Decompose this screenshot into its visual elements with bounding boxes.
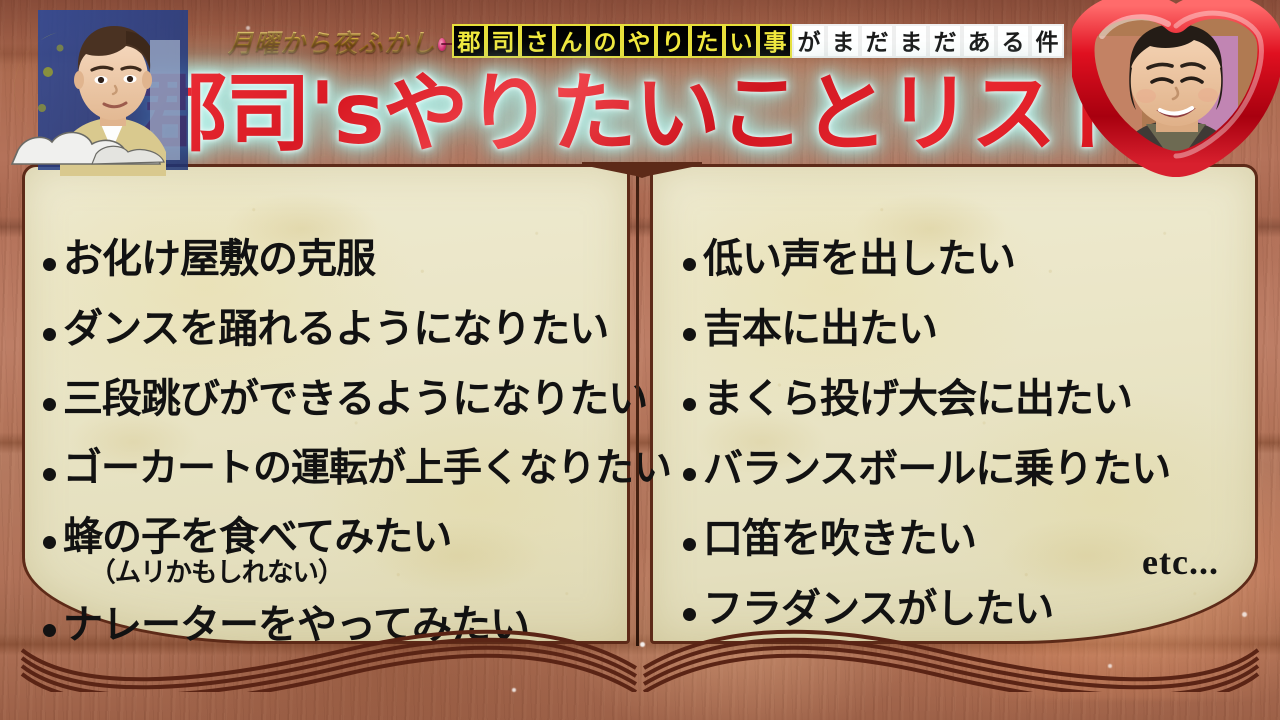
bullet-icon bbox=[43, 328, 56, 341]
wishlist-item: バランスボールに乗りたい bbox=[683, 449, 1170, 490]
subtitle-char-plain: あ bbox=[962, 24, 996, 58]
subtitle-char-highlight: り bbox=[656, 24, 690, 58]
host-photo bbox=[0, 0, 212, 180]
show-logo-text: 月曜から夜ふかし bbox=[228, 24, 436, 60]
book-spine-top-notch bbox=[582, 162, 702, 178]
bullet-icon bbox=[43, 468, 56, 481]
subtitle-char-plain: ま bbox=[894, 24, 928, 58]
open-book: お化け屋敷の克服ダンスを踊れるようになりたい三段跳びができるようになりたいゴーカ… bbox=[22, 164, 1258, 684]
page-title-text: 郡司'sやりたいことリスト bbox=[141, 66, 1139, 162]
wishlist-item-label: お化け屋敷の克服 bbox=[63, 239, 375, 280]
bullet-icon bbox=[43, 258, 56, 271]
subtitle-char-plain: る bbox=[996, 24, 1030, 58]
wishlist-item-label: 低い声を出したい bbox=[703, 239, 1015, 280]
wishlist-item-label: ゴーカートの運転が上手くなりたい bbox=[63, 449, 671, 489]
subtitle-char-highlight: た bbox=[690, 24, 724, 58]
bullet-icon bbox=[43, 536, 56, 549]
show-logo: 月曜から夜ふかし bbox=[228, 23, 446, 61]
subtitle-char-highlight: い bbox=[724, 24, 758, 58]
wishlist-item: 口笛を吹きたい bbox=[683, 519, 976, 560]
wishlist-item: 三段跳びができるようになりたい bbox=[43, 379, 647, 420]
subtitle-char-highlight: 事 bbox=[758, 24, 792, 58]
wishlist-item: ゴーカートの運転が上手くなりたい bbox=[43, 449, 671, 489]
bullet-icon bbox=[683, 328, 696, 341]
wishlist-item-label: 吉本に出たい bbox=[703, 309, 937, 350]
wishlist-item: 吉本に出たい bbox=[683, 309, 937, 350]
subtitle-char-plain: 件 bbox=[1030, 24, 1064, 58]
book-spine bbox=[636, 164, 639, 646]
subtitle-char-highlight: 郡 bbox=[452, 24, 486, 58]
book-page-edges bbox=[16, 564, 1264, 692]
wishlist-item-label: まくら投げ大会に出たい bbox=[703, 379, 1132, 420]
wishlist-item-label: 口笛を吹きたい bbox=[703, 519, 976, 560]
subtitle-char-highlight: ん bbox=[554, 24, 588, 58]
bullet-icon bbox=[683, 468, 696, 481]
subtitle-char-plain: が bbox=[792, 24, 826, 58]
etcetera-label: etc... bbox=[1142, 541, 1219, 583]
wishlist-item-label: ダンスを踊れるようになりたい bbox=[63, 309, 608, 350]
wishlist-item: 低い声を出したい bbox=[683, 239, 1015, 280]
wishlist-item-label: 三段跳びができるようになりたい bbox=[63, 379, 647, 420]
subtitle-char-highlight: 司 bbox=[486, 24, 520, 58]
wishlist-item: ダンスを踊れるようになりたい bbox=[43, 309, 608, 350]
bullet-icon bbox=[683, 538, 696, 551]
wishlist-item: お化け屋敷の克服 bbox=[43, 239, 375, 280]
subtitle-char-highlight: や bbox=[622, 24, 656, 58]
bullet-icon bbox=[43, 398, 56, 411]
bullet-icon bbox=[683, 398, 696, 411]
lips-icon bbox=[438, 38, 446, 51]
wishlist-item: まくら投げ大会に出たい bbox=[683, 379, 1132, 420]
subtitle-char-highlight: さ bbox=[520, 24, 554, 58]
subtitle-char-plain: だ bbox=[928, 24, 962, 58]
matsuko-photo bbox=[1072, 0, 1280, 178]
subtitle-char-plain: だ bbox=[860, 24, 894, 58]
tv-screen: 月曜から夜ふかし 郡司さんのやりたい事がまだまだある件 郡司'sやりたいことリス… bbox=[0, 0, 1280, 720]
subtitle-strip: 郡司さんのやりたい事がまだまだある件 bbox=[452, 24, 1064, 58]
bullet-icon bbox=[683, 258, 696, 271]
wishlist-item-label: バランスボールに乗りたい bbox=[703, 449, 1170, 490]
subtitle-char-plain: ま bbox=[826, 24, 860, 58]
subtitle-char-highlight: の bbox=[588, 24, 622, 58]
